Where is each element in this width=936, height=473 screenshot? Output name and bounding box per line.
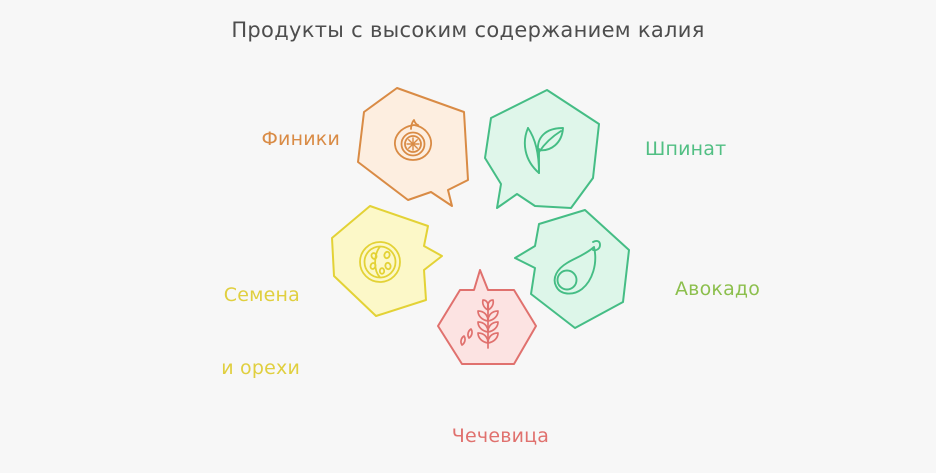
label-spinach-text: Шпинат xyxy=(645,138,726,160)
hexagon-shape-lentils xyxy=(418,264,558,394)
label-avocado: Авокадо xyxy=(650,253,840,326)
hexagon-card-spinach[interactable] xyxy=(475,86,615,216)
hexagon-card-lentils[interactable] xyxy=(418,264,558,394)
label-dates-text: Финики xyxy=(262,128,341,150)
label-seeds: Семена и орехи xyxy=(140,234,300,429)
label-seeds-line2: и орехи xyxy=(140,356,300,380)
hexagon-card-dates[interactable] xyxy=(348,82,488,212)
label-seeds-line1: Семена xyxy=(140,283,300,307)
hexagon-shape-dates xyxy=(348,82,488,212)
label-spinach: Шпинат xyxy=(620,113,810,186)
page-title: Продукты с высоким содержанием калия xyxy=(0,18,936,42)
label-lentils: Чечевица xyxy=(338,400,638,473)
hexagon-shape-spinach xyxy=(475,86,615,216)
label-dates: Финики xyxy=(180,103,340,176)
infographic-canvas: Продукты с высоким содержанием калия Фин… xyxy=(0,0,936,455)
label-lentils-text: Чечевица xyxy=(452,425,549,447)
label-avocado-text: Авокадо xyxy=(675,278,760,300)
